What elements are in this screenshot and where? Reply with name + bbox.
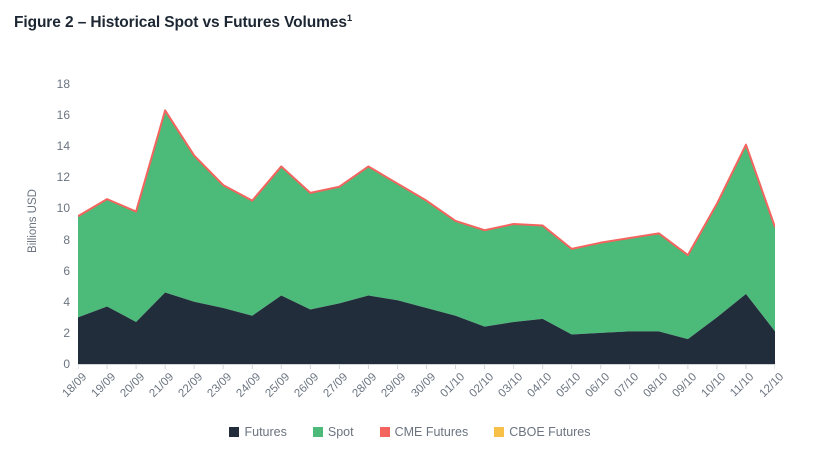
- x-axis-tick: 10/10: [699, 371, 728, 400]
- x-axis-tick: 04/10: [525, 371, 554, 400]
- x-axis-tick: 29/09: [380, 371, 409, 400]
- x-axis-tick: 25/09: [264, 371, 293, 400]
- x-axis-tick: 22/09: [177, 371, 206, 400]
- figure-container: Figure 2 – Historical Spot vs Futures Vo…: [0, 0, 820, 459]
- legend-item[interactable]: CBOE Futures: [494, 425, 590, 439]
- x-axis-tick: 12/10: [757, 371, 786, 400]
- y-axis-tick: 6: [44, 264, 70, 278]
- y-axis-tick: 0: [44, 357, 70, 371]
- y-axis-tick: 4: [44, 295, 70, 309]
- x-axis-tick: 19/09: [89, 371, 118, 400]
- legend-item-label: CME Futures: [395, 425, 469, 439]
- x-axis-tick: 07/10: [612, 371, 641, 400]
- plot-area: [78, 44, 775, 419]
- x-axis-tick: 03/10: [496, 371, 525, 400]
- x-axis-tick: 24/09: [235, 371, 264, 400]
- title-footnote-marker: 1: [347, 13, 352, 24]
- y-axis-tick-labels: 024681012141618: [44, 44, 70, 419]
- x-axis-tick: 30/09: [409, 371, 438, 400]
- legend-item[interactable]: CME Futures: [380, 425, 469, 439]
- legend-item[interactable]: Futures: [229, 425, 286, 439]
- y-axis-title-label: Billions USD: [27, 146, 39, 296]
- chart-legend: FuturesSpotCME FuturesCBOE Futures: [0, 425, 820, 439]
- x-axis-tick: 20/09: [119, 371, 148, 400]
- x-axis-tick: 08/10: [641, 371, 670, 400]
- y-axis-tick: 8: [44, 233, 70, 247]
- x-axis-tick: 11/10: [728, 371, 756, 399]
- y-axis-tick: 16: [44, 108, 70, 122]
- area-chart-svg: [78, 44, 775, 419]
- chart-title-text: Figure 2 – Historical Spot vs Futures Vo…: [14, 14, 347, 31]
- x-axis-tick: 23/09: [206, 371, 235, 400]
- legend-item-label: Spot: [328, 425, 354, 439]
- square-swatch: [229, 427, 239, 437]
- y-axis-tick: 10: [44, 201, 70, 215]
- x-axis-tick: 06/10: [583, 371, 612, 400]
- y-axis-tick: 18: [44, 77, 70, 91]
- square-swatch: [313, 427, 323, 437]
- legend-item-label: Futures: [244, 425, 286, 439]
- page-title: Figure 2 – Historical Spot vs Futures Vo…: [14, 14, 352, 32]
- plot-wrapper: Billions USD 024681012141618 18/0919/092…: [0, 44, 820, 419]
- x-axis-tick: 09/10: [670, 371, 699, 400]
- x-axis-tick: 27/09: [322, 371, 351, 400]
- legend-item[interactable]: Spot: [313, 425, 354, 439]
- square-swatch: [494, 427, 504, 437]
- x-axis-tick: 28/09: [351, 371, 380, 400]
- x-axis-tick: 01/10: [438, 371, 467, 400]
- y-axis-tick: 14: [44, 139, 70, 153]
- legend-item-label: CBOE Futures: [509, 425, 590, 439]
- y-axis-tick: 2: [44, 326, 70, 340]
- x-axis-tick: 26/09: [293, 371, 322, 400]
- y-axis-tick: 12: [44, 170, 70, 184]
- x-axis-tick: 21/09: [148, 371, 177, 400]
- square-swatch: [380, 427, 390, 437]
- x-axis-tick: 05/10: [554, 371, 583, 400]
- x-axis-tick: 02/10: [467, 371, 496, 400]
